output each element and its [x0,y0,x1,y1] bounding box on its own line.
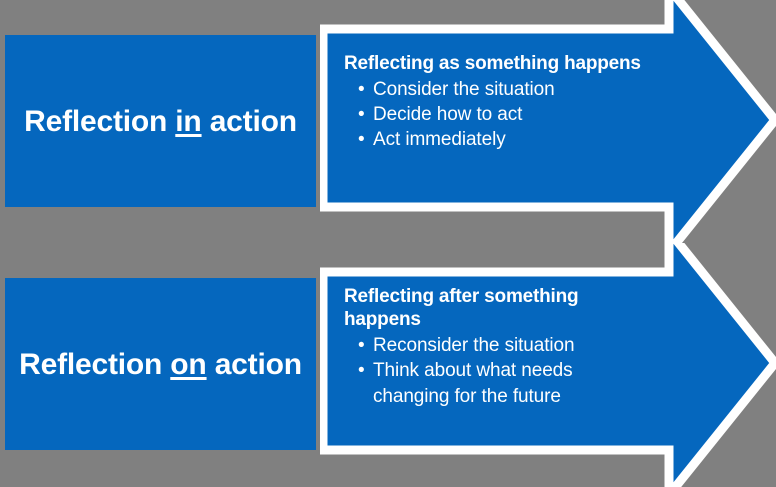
label-text-reflection-on-action: Reflection on action [19,348,302,381]
bullet-icon: • [358,102,365,127]
label-prefix: Reflection [19,348,170,381]
list-item-label: Consider the situation [373,79,555,100]
list-item: •Consider the situation [358,77,644,102]
arrow-heading-top: Reflecting as something happens [344,52,644,75]
bullet-icon: • [358,358,365,383]
list-item-label: Decide how to act [373,104,522,125]
diagram-canvas: Reflection in action Reflecting as somet… [0,0,776,487]
label-suffix: action [202,105,297,138]
list-item: •Reconsider the situation [358,333,644,358]
arrow-content-top: Reflecting as something happens •Conside… [344,52,644,152]
list-item: •Decide how to act [358,102,644,127]
arrow-heading-bottom: Reflecting after something happens [344,285,644,331]
arrow-reflection-in-action: Reflecting as something happens •Conside… [320,0,776,248]
arrow-reflection-on-action: Reflecting after something happens •Reco… [320,243,776,487]
label-emphasis-on: on [170,348,206,381]
list-item-label: Reconsider the situation [373,335,574,356]
label-suffix: action [207,348,302,381]
label-box-reflection-on-action: Reflection on action [5,278,316,450]
label-emphasis-in: in [175,105,201,138]
bullet-icon: • [358,333,365,358]
label-text-reflection-in-action: Reflection in action [24,105,297,138]
list-item: •Think about what needs changing for the… [358,358,644,408]
bullet-icon: • [358,77,365,102]
arrow-bullet-list-top: •Consider the situation •Decide how to a… [344,77,644,152]
bullet-icon: • [358,127,365,152]
list-item-label: Think about what needs changing for the … [373,360,573,406]
list-item: •Act immediately [358,127,644,152]
label-prefix: Reflection [24,105,175,138]
label-box-reflection-in-action: Reflection in action [5,35,316,207]
arrow-content-bottom: Reflecting after something happens •Reco… [344,285,644,409]
arrow-bullet-list-bottom: •Reconsider the situation •Think about w… [344,333,644,408]
list-item-label: Act immediately [373,129,506,150]
